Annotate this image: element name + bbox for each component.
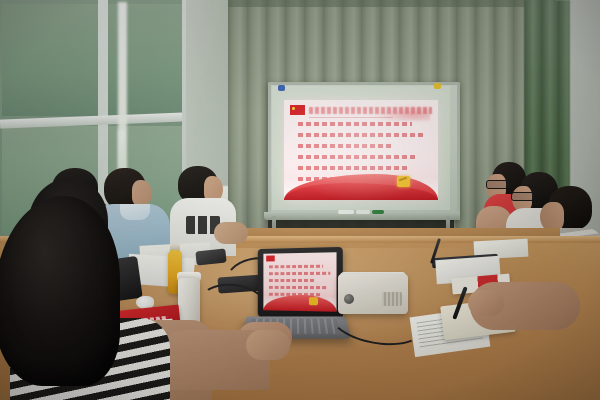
laptop-slide-text-line (269, 286, 327, 289)
glasses-icon (486, 180, 510, 189)
person-hand-writing (468, 290, 504, 316)
person-face (132, 180, 152, 206)
marker-green (372, 210, 384, 214)
person-hair-curly (0, 196, 120, 386)
projected-slide (284, 100, 438, 200)
slide-text-line (298, 155, 418, 159)
chinese-flag-icon (266, 255, 275, 261)
marker-white (338, 210, 354, 214)
slide-text-line (298, 144, 392, 148)
window-blind-panel (2, 4, 98, 116)
slide-text-line (298, 133, 423, 137)
curtain-rail (228, 0, 528, 7)
slide-header (290, 105, 432, 116)
slide-text-line (298, 166, 409, 170)
party-emblem-icon (397, 176, 410, 187)
blue-magnet (278, 85, 285, 91)
glasses-icon (511, 192, 535, 201)
person-arm (214, 222, 248, 244)
person-hand (246, 330, 290, 360)
photo-scene (0, 0, 600, 400)
yellow-magnet (434, 83, 441, 89)
slide-text-line (298, 122, 412, 126)
shirt-collar (120, 204, 150, 220)
laptop-slide-text-line (269, 265, 323, 269)
chinese-flag-icon (290, 105, 305, 115)
laptop-slide-text-line (269, 272, 330, 275)
laptop-screen (263, 252, 336, 312)
party-emblem-icon (309, 297, 318, 305)
laptop-slide-text-line (269, 279, 314, 282)
slide-decoration (372, 105, 430, 121)
laptop-slide-wave (263, 295, 336, 312)
marker-white (356, 210, 370, 214)
